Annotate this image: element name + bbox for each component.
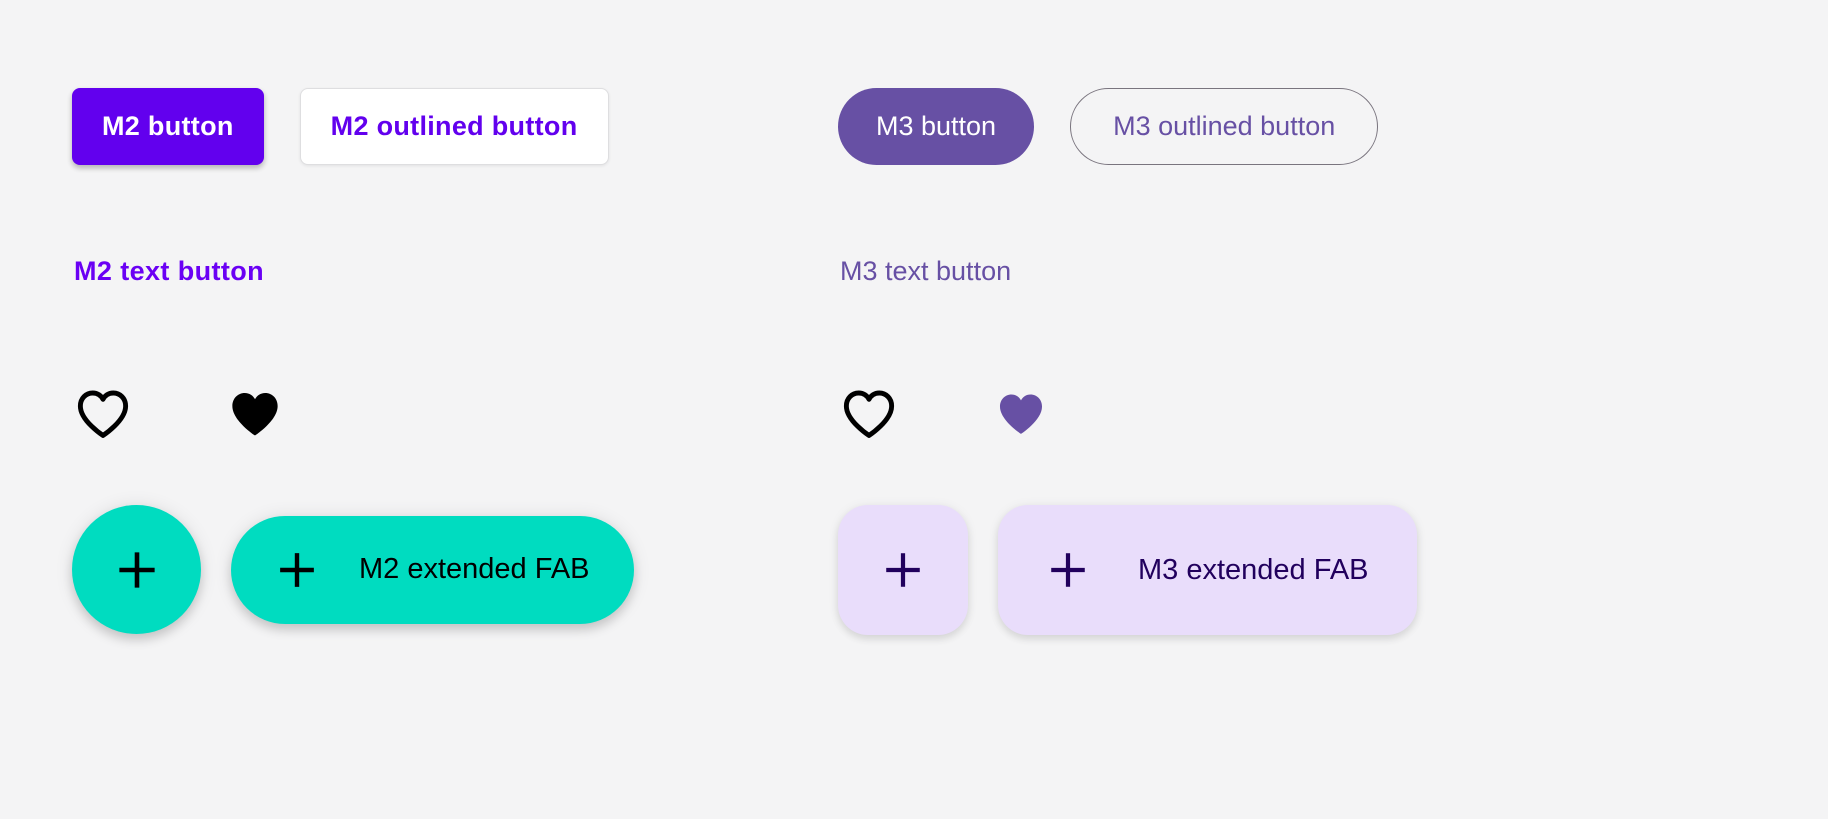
m3-outlined-button[interactable]: M3 outlined button	[1070, 88, 1378, 165]
m2-extended-fab-label: M2 extended FAB	[359, 553, 590, 586]
m3-extended-fab-label: M3 extended FAB	[1138, 554, 1369, 587]
m2-outlined-button[interactable]: M2 outlined button	[300, 88, 609, 165]
m3-fabs-row: M3 extended FAB	[838, 505, 1417, 635]
m2-icons-row	[72, 383, 286, 445]
plus-icon	[114, 547, 160, 593]
m2-fabs-row: M2 extended FAB	[72, 505, 634, 634]
m2-extended-fab[interactable]: M2 extended FAB	[231, 516, 634, 624]
m2-fab[interactable]	[72, 505, 201, 634]
plus-icon	[881, 548, 925, 592]
m3-text-button[interactable]: M3 text button	[838, 252, 1013, 291]
comparison-canvas: M2 button M2 outlined button M2 text but…	[0, 0, 1828, 819]
heart-outline-icon	[841, 388, 897, 440]
m3-column: M3 button M3 outlined button M3 text but…	[838, 0, 1598, 819]
plus-icon	[1046, 548, 1090, 592]
m2-filled-button[interactable]: M2 button	[72, 88, 264, 165]
heart-outline-icon	[75, 388, 131, 440]
m2-column: M2 button M2 outlined button M2 text but…	[72, 0, 832, 819]
plus-icon	[275, 548, 319, 592]
m3-heart-filled-button[interactable]	[990, 383, 1052, 445]
m2-buttons-row: M2 button M2 outlined button	[72, 88, 609, 165]
m3-icons-row	[838, 383, 1052, 445]
m3-text-row: M3 text button	[838, 252, 1013, 291]
m2-heart-outline-button[interactable]	[72, 383, 134, 445]
heart-filled-icon	[995, 390, 1047, 438]
m3-extended-fab[interactable]: M3 extended FAB	[998, 505, 1417, 635]
m3-filled-button[interactable]: M3 button	[838, 88, 1034, 165]
m3-buttons-row: M3 button M3 outlined button	[838, 88, 1378, 165]
m3-heart-outline-button[interactable]	[838, 383, 900, 445]
m2-text-row: M2 text button	[72, 252, 266, 291]
m2-heart-filled-button[interactable]	[224, 383, 286, 445]
m2-text-button[interactable]: M2 text button	[72, 252, 266, 291]
m3-fab[interactable]	[838, 505, 968, 635]
heart-filled-icon	[227, 388, 283, 440]
